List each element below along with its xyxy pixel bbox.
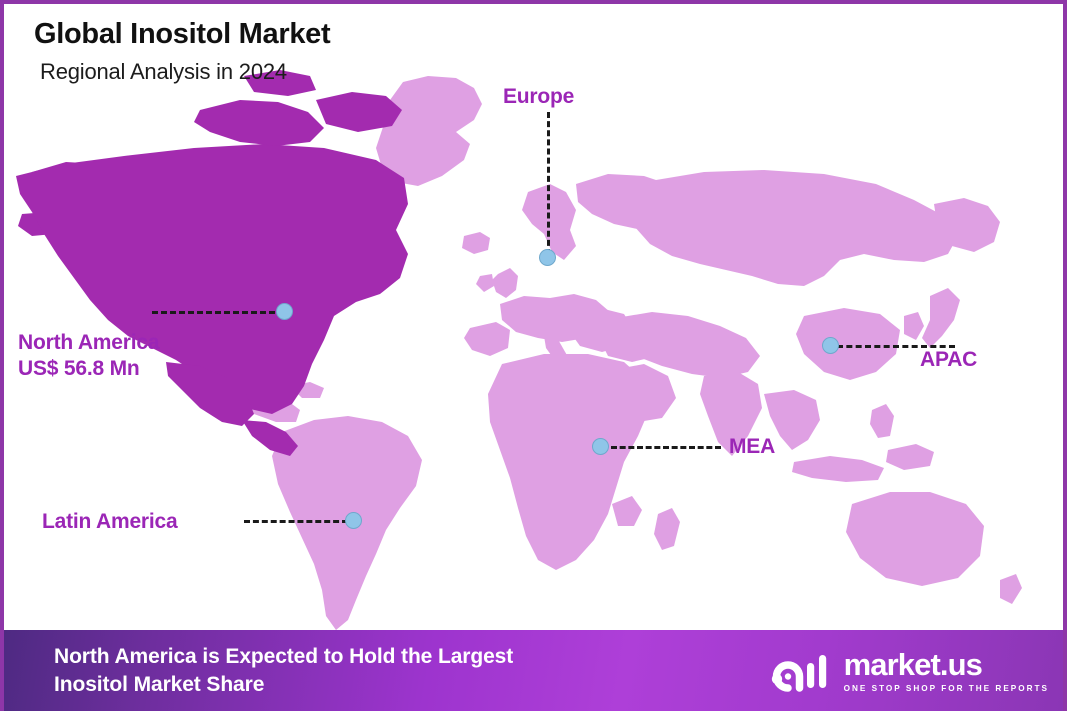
infographic-root: Global Inositol Market Regional Analysis… (0, 0, 1067, 711)
region-name-apac: APAC (920, 347, 977, 373)
region-name-europe: Europe (503, 84, 574, 110)
region-name-latin-america: Latin America (42, 509, 178, 535)
market-us-logo: market.us ONE STOP SHOP FOR THE REPORTS (771, 649, 1049, 693)
marker-latin-america (345, 512, 362, 529)
logo-name: market.us (844, 649, 1049, 680)
region-name-mea: MEA (729, 434, 775, 460)
leader-line-europe (547, 112, 550, 255)
region-label-north-america: North America US$ 56.8 Mn (18, 330, 159, 381)
page-title: Global Inositol Market (34, 18, 330, 51)
leader-line-mea (611, 446, 721, 449)
world-map (4, 64, 1067, 634)
footer-headline-line2: Inositol Market Share (54, 671, 513, 699)
marker-europe (539, 249, 556, 266)
region-label-europe: Europe (503, 84, 574, 110)
market-us-logo-text: market.us ONE STOP SHOP FOR THE REPORTS (844, 649, 1049, 693)
region-name-north-america: North America (18, 330, 159, 356)
leader-line-latin-america (244, 520, 348, 523)
region-value-north-america: US$ 56.8 Mn (18, 356, 159, 382)
logo-tagline: ONE STOP SHOP FOR THE REPORTS (844, 684, 1049, 693)
marker-apac (822, 337, 839, 354)
market-us-logo-icon (771, 650, 833, 692)
marker-mea (592, 438, 609, 455)
region-label-latin-america: Latin America (42, 509, 178, 535)
footer-headline-line1: North America is Expected to Hold the La… (54, 643, 513, 671)
world-map-svg (4, 64, 1067, 634)
footer-headline: North America is Expected to Hold the La… (54, 643, 513, 698)
footer-banner: North America is Expected to Hold the La… (4, 630, 1067, 711)
leader-line-north-america (152, 311, 284, 314)
region-label-apac: APAC (920, 347, 977, 373)
region-label-mea: MEA (729, 434, 775, 460)
map-region-north-america (16, 70, 408, 456)
header: Global Inositol Market Regional Analysis… (34, 18, 330, 85)
page-subtitle: Regional Analysis in 2024 (40, 59, 330, 85)
marker-north-america (276, 303, 293, 320)
